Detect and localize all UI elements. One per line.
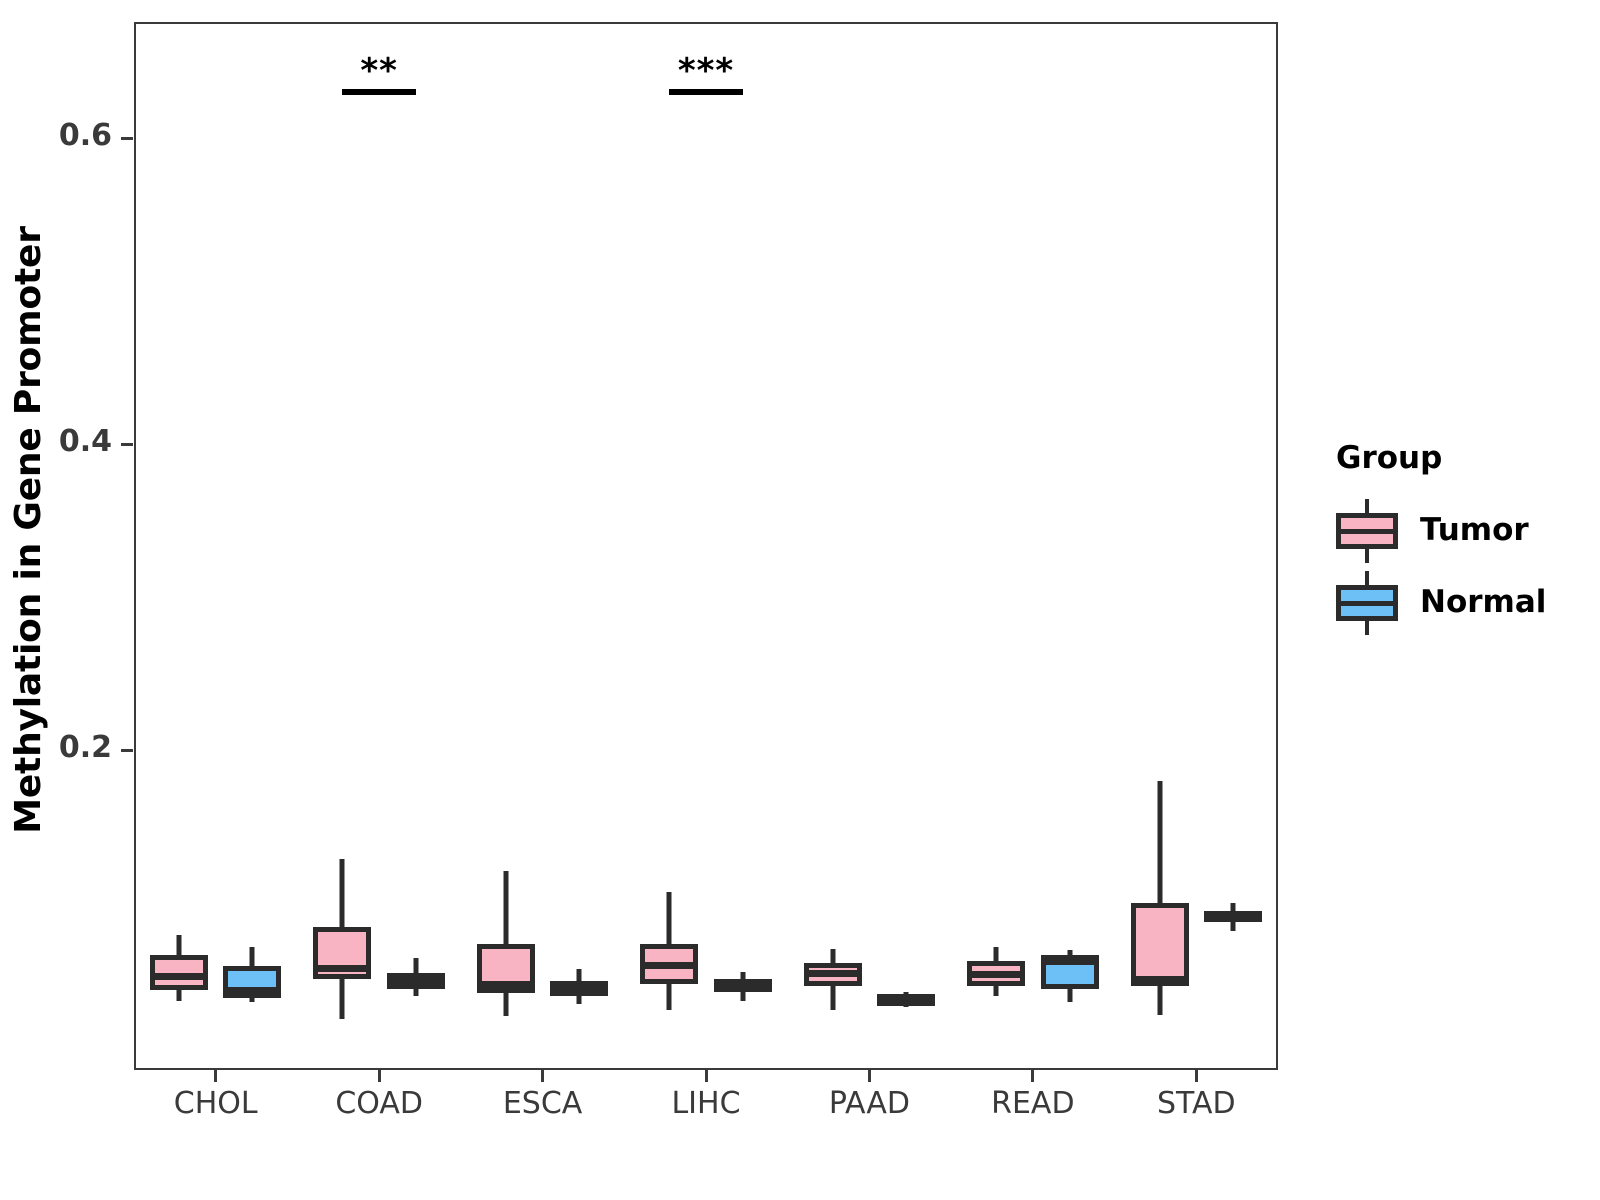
y-tick-label: 0.4 <box>40 424 112 459</box>
median-line <box>877 994 935 1001</box>
median-line <box>313 965 371 972</box>
whisker-lower <box>1231 921 1236 930</box>
median-line <box>387 978 445 985</box>
median-line <box>1131 976 1189 983</box>
significance-label-coad: ** <box>360 51 398 91</box>
significance-label-lihc: *** <box>678 51 734 91</box>
boxplot-stad-tumor <box>1131 781 1189 1015</box>
x-tick-mark <box>1031 1070 1034 1082</box>
y-tick-label: 0.6 <box>40 118 112 153</box>
whisker-lower <box>830 986 835 1010</box>
median-line <box>223 987 281 994</box>
median-line <box>1204 912 1262 919</box>
whisker-upper <box>667 892 672 944</box>
boxplot-read-normal <box>1041 950 1099 1002</box>
median-line <box>550 985 608 992</box>
x-tick-label-stad: STAD <box>1157 1086 1236 1121</box>
whisker-upper <box>413 958 418 973</box>
y-tick-mark <box>121 443 133 446</box>
x-tick-label-esca: ESCA <box>503 1086 582 1121</box>
whisker-lower <box>176 990 181 1001</box>
x-tick-mark <box>868 1070 871 1082</box>
x-tick-label-paad: PAAD <box>829 1086 910 1121</box>
whisker-lower <box>740 992 745 1001</box>
legend-median-line <box>1336 601 1398 606</box>
y-tick-mark <box>121 137 133 140</box>
whisker-lower <box>667 984 672 1010</box>
median-line <box>804 970 862 977</box>
legend-item-normal[interactable]: Normal <box>1336 566 1586 638</box>
boxplot-stad-normal <box>1204 903 1262 931</box>
boxplot-read-tumor <box>967 947 1025 996</box>
x-tick-label-read: READ <box>991 1086 1074 1121</box>
whisker-lower <box>413 989 418 997</box>
x-tick-mark <box>378 1070 381 1082</box>
legend-label-tumor: Tumor <box>1420 512 1529 548</box>
chart-canvas: Methylation in Gene Promoter 0.20.40.6 C… <box>0 0 1600 1200</box>
x-tick-mark <box>1195 1070 1198 1082</box>
x-tick-mark <box>214 1070 217 1082</box>
boxplot-chol-tumor <box>150 935 208 1001</box>
median-line <box>1041 958 1099 965</box>
whisker-lower <box>340 979 345 1019</box>
median-line <box>714 982 772 989</box>
legend-whisker-lower <box>1365 547 1369 563</box>
whisker-lower <box>250 998 255 1003</box>
median-line <box>477 981 535 988</box>
y-tick-mark <box>121 749 133 752</box>
whisker-upper <box>740 972 745 980</box>
legend-whisker-lower <box>1365 619 1369 635</box>
whisker-upper <box>1157 781 1162 903</box>
whisker-lower <box>1067 989 1072 1003</box>
boxplot-coad-tumor <box>313 859 371 1020</box>
whisker-upper <box>250 947 255 965</box>
box-iqr <box>1131 903 1189 986</box>
x-tick-mark <box>705 1070 708 1082</box>
legend-median-line <box>1336 529 1398 534</box>
plot-panel <box>134 22 1278 1070</box>
legend-key-tumor <box>1336 499 1398 561</box>
whisker-lower <box>577 996 582 1004</box>
y-axis-title: Methylation in Gene Promoter <box>0 5 56 1055</box>
boxplot-esca-normal <box>550 969 608 1004</box>
boxplot-chol-normal <box>223 947 281 1002</box>
x-tick-label-lihc: LIHC <box>671 1086 740 1121</box>
legend-item-tumor[interactable]: Tumor <box>1336 494 1586 566</box>
boxplot-esca-tumor <box>477 871 535 1016</box>
whisker-upper <box>994 947 999 961</box>
whisker-lower <box>503 993 508 1016</box>
legend-label-normal: Normal <box>1420 584 1546 620</box>
whisker-upper <box>340 859 345 928</box>
legend-title: Group <box>1336 440 1586 476</box>
boxplot-coad-normal <box>387 958 445 996</box>
x-tick-label-chol: CHOL <box>174 1086 258 1121</box>
x-tick-label-coad: COAD <box>335 1086 423 1121</box>
median-line <box>967 971 1025 978</box>
whisker-lower <box>994 986 999 997</box>
boxplot-lihc-tumor <box>640 892 698 1010</box>
whisker-upper <box>176 935 181 955</box>
whisker-lower <box>1157 986 1162 1015</box>
whisker-upper <box>1231 903 1236 911</box>
x-tick-mark <box>541 1070 544 1082</box>
whisker-upper <box>830 949 835 963</box>
boxplot-paad-tumor <box>804 949 862 1010</box>
legend-key-normal <box>1336 571 1398 633</box>
boxplot-lihc-normal <box>714 972 772 1001</box>
legend: Group TumorNormal <box>1336 440 1586 638</box>
whisker-upper <box>503 871 508 944</box>
legend-items: TumorNormal <box>1336 494 1586 638</box>
whisker-upper <box>577 969 582 981</box>
median-line <box>150 973 208 980</box>
y-tick-label: 0.2 <box>40 730 112 765</box>
boxplot-paad-normal <box>877 992 935 1007</box>
median-line <box>640 962 698 969</box>
